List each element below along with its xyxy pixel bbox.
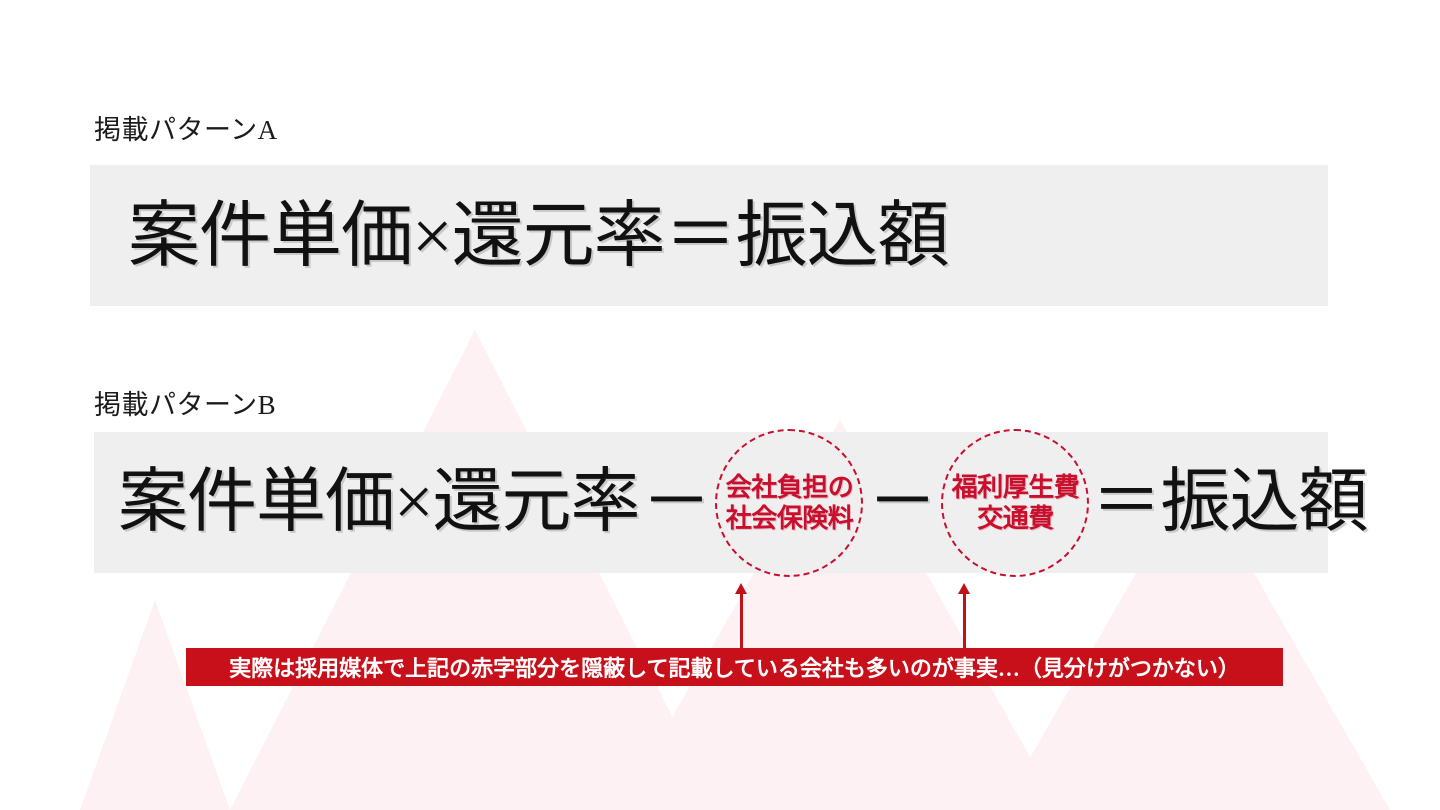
deduction-circle-2-line-2: 交通費 xyxy=(977,503,1054,534)
up-arrow-icon-right xyxy=(963,592,966,648)
pattern-b-formula-right: ＝振込額 xyxy=(1091,468,1367,538)
pattern-b-formula-left: 案件単価×還元率 xyxy=(118,468,639,538)
caption-text: 実際は採用媒体で上記の赤字部分を隠蔽して記載している会社も多いのが事実…（見分け… xyxy=(229,651,1240,683)
deduction-circle-welfare-transport: 福利厚生費 交通費 xyxy=(941,429,1089,577)
up-arrow-icon-left xyxy=(740,592,743,648)
caption-bar: 実際は採用媒体で上記の赤字部分を隠蔽して記載している会社も多いのが事実…（見分け… xyxy=(186,648,1283,686)
pattern-a-formula-panel: 案件単価×還元率＝振込額 xyxy=(90,165,1328,306)
minus-operator-1: － xyxy=(639,468,713,538)
deduction-circle-1-line-1: 会社負担の xyxy=(726,472,854,503)
deduction-circle-2-line-1: 福利厚生費 xyxy=(952,472,1080,503)
pattern-b-label: 掲載パターンB xyxy=(94,383,276,422)
slide-canvas: 掲載パターンA 案件単価×還元率＝振込額 掲載パターンB 案件単価×還元率 － … xyxy=(0,0,1440,810)
pattern-a-label: 掲載パターンA xyxy=(94,108,278,147)
pattern-b-formula-row: 案件単価×還元率 － 会社負担の 社会保険料 － 福利厚生費 交通費 ＝振込額 xyxy=(118,429,1367,577)
deduction-circle-1-line-2: 社会保険料 xyxy=(726,503,854,534)
pattern-b-formula-panel: 案件単価×還元率 － 会社負担の 社会保険料 － 福利厚生費 交通費 ＝振込額 xyxy=(94,432,1328,573)
pattern-a-formula: 案件単価×還元率＝振込額 xyxy=(128,200,949,272)
deduction-circle-social-insurance: 会社負担の 社会保険料 xyxy=(715,429,863,577)
minus-operator-2: － xyxy=(865,468,939,538)
